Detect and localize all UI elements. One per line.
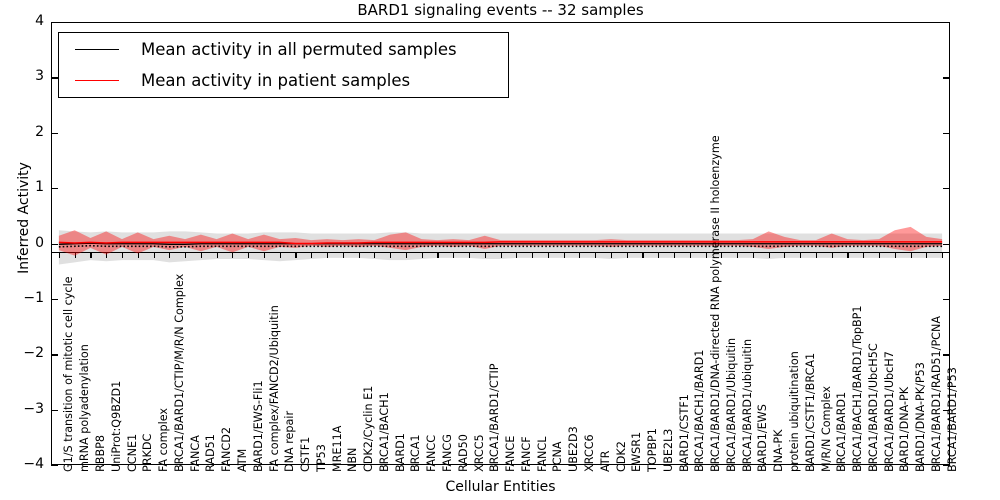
y-tick-label: 0 [8,236,44,250]
legend-label: Mean activity in patient samples [141,71,410,90]
legend-label: Mean activity in all permuted samples [141,40,457,59]
chart-legend: Mean activity in all permuted samples Me… [58,32,509,98]
y-tick-mark [51,465,58,466]
legend-item-permuted: Mean activity in all permuted samples [59,33,508,66]
legend-item-patient: Mean activity in patient samples [59,64,508,97]
x-axis-label: Cellular Entities [51,479,950,495]
page-title: BARD1 signaling events -- 32 samples [51,1,950,19]
y-tick-label: −4 [8,457,44,471]
legend-line-swatch-red [75,80,119,81]
y-tick-label: −3 [8,402,44,416]
y-tick-label: 1 [8,180,44,194]
y-tick-label: −2 [8,346,44,360]
y-tick-label: 4 [8,14,44,28]
legend-line-swatch-black [75,49,119,50]
y-tick-label: 2 [8,125,44,139]
y-tick-label: 3 [8,69,44,83]
y-tick-label: −1 [8,291,44,305]
